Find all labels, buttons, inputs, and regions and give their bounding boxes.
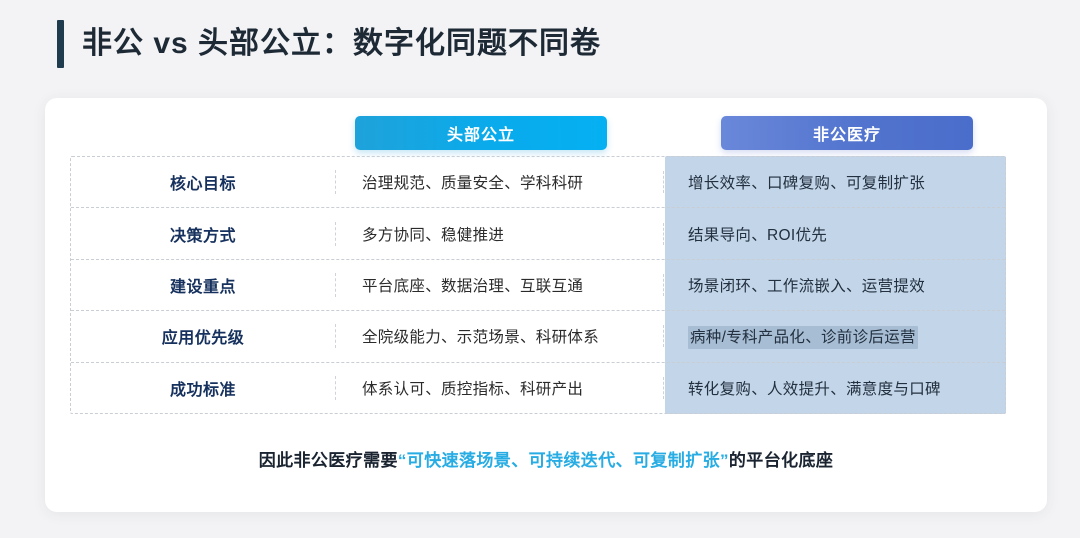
row-value-public: 平台底座、数据治理、互联互通 xyxy=(336,274,664,296)
table-row: 应用优先级 全院级能力、示范场景、科研体系 病种/专科产品化、诊前诊后运营 xyxy=(71,311,1005,362)
comparison-card: 头部公立 非公医疗 核心目标 治理规范、质量安全、学科科研 增长效率、口碑复购、… xyxy=(45,98,1047,512)
conclusion-suffix: 的平台化底座 xyxy=(729,451,833,470)
row-label: 决策方式 xyxy=(71,222,336,246)
table-row: 建设重点 平台底座、数据治理、互联互通 场景闭环、工作流嵌入、运营提效 xyxy=(71,260,1005,311)
row-value-private-text: 结果导向、ROI优先 xyxy=(688,227,827,244)
row-value-private: 结果导向、ROI优先 xyxy=(664,223,1005,245)
table-row: 核心目标 治理规范、质量安全、学科科研 增长效率、口碑复购、可复制扩张 xyxy=(71,157,1005,208)
conclusion-statement: 因此非公医疗需要“可快速落场景、可持续迭代、可复制扩张”的平台化底座 xyxy=(45,446,1047,471)
comparison-table: 核心目标 治理规范、质量安全、学科科研 增长效率、口碑复购、可复制扩张 决策方式… xyxy=(70,156,1006,414)
row-label: 成功标准 xyxy=(71,376,336,400)
row-value-public: 全院级能力、示范场景、科研体系 xyxy=(336,325,664,347)
row-label: 应用优先级 xyxy=(71,324,336,348)
table-row: 决策方式 多方协同、稳健推进 结果导向、ROI优先 xyxy=(71,208,1005,259)
column-header-public-label: 头部公立 xyxy=(447,121,515,145)
row-value-private: 病种/专科产品化、诊前诊后运营 xyxy=(664,325,1005,347)
column-header-private: 非公医疗 xyxy=(721,116,973,150)
row-value-private: 增长效率、口碑复购、可复制扩张 xyxy=(664,171,1005,193)
page-title: 非公 vs 头部公立：数字化同题不同卷 xyxy=(57,18,601,70)
conclusion-prefix: 因此非公医疗需要 xyxy=(259,451,398,470)
row-value-private-highlighted-text: 病种/专科产品化、诊前诊后运营 xyxy=(688,326,918,349)
row-value-public: 多方协同、稳健推进 xyxy=(336,223,664,245)
row-value-private-text: 转化复购、人效提升、满意度与口碑 xyxy=(688,381,941,398)
row-value-private-text: 增长效率、口碑复购、可复制扩张 xyxy=(688,175,925,192)
row-value-private: 场景闭环、工作流嵌入、运营提效 xyxy=(664,274,1005,296)
row-value-public: 治理规范、质量安全、学科科研 xyxy=(336,171,664,193)
row-label: 建设重点 xyxy=(71,273,336,297)
row-value-private-text: 场景闭环、工作流嵌入、运营提效 xyxy=(688,278,925,295)
column-header-public: 头部公立 xyxy=(355,116,607,150)
table-row: 成功标准 体系认可、质控指标、科研产出 转化复购、人效提升、满意度与口碑 xyxy=(71,363,1005,413)
row-label: 核心目标 xyxy=(71,170,336,194)
column-header-private-label: 非公医疗 xyxy=(813,121,881,145)
conclusion-quote: “可快速落场景、可持续迭代、可复制扩张” xyxy=(398,451,729,470)
page-title-text: 非公 vs 头部公立：数字化同题不同卷 xyxy=(82,29,601,59)
row-value-public: 体系认可、质控指标、科研产出 xyxy=(336,377,664,399)
row-value-private: 转化复购、人效提升、满意度与口碑 xyxy=(664,377,1005,399)
title-accent-bar xyxy=(57,20,64,68)
